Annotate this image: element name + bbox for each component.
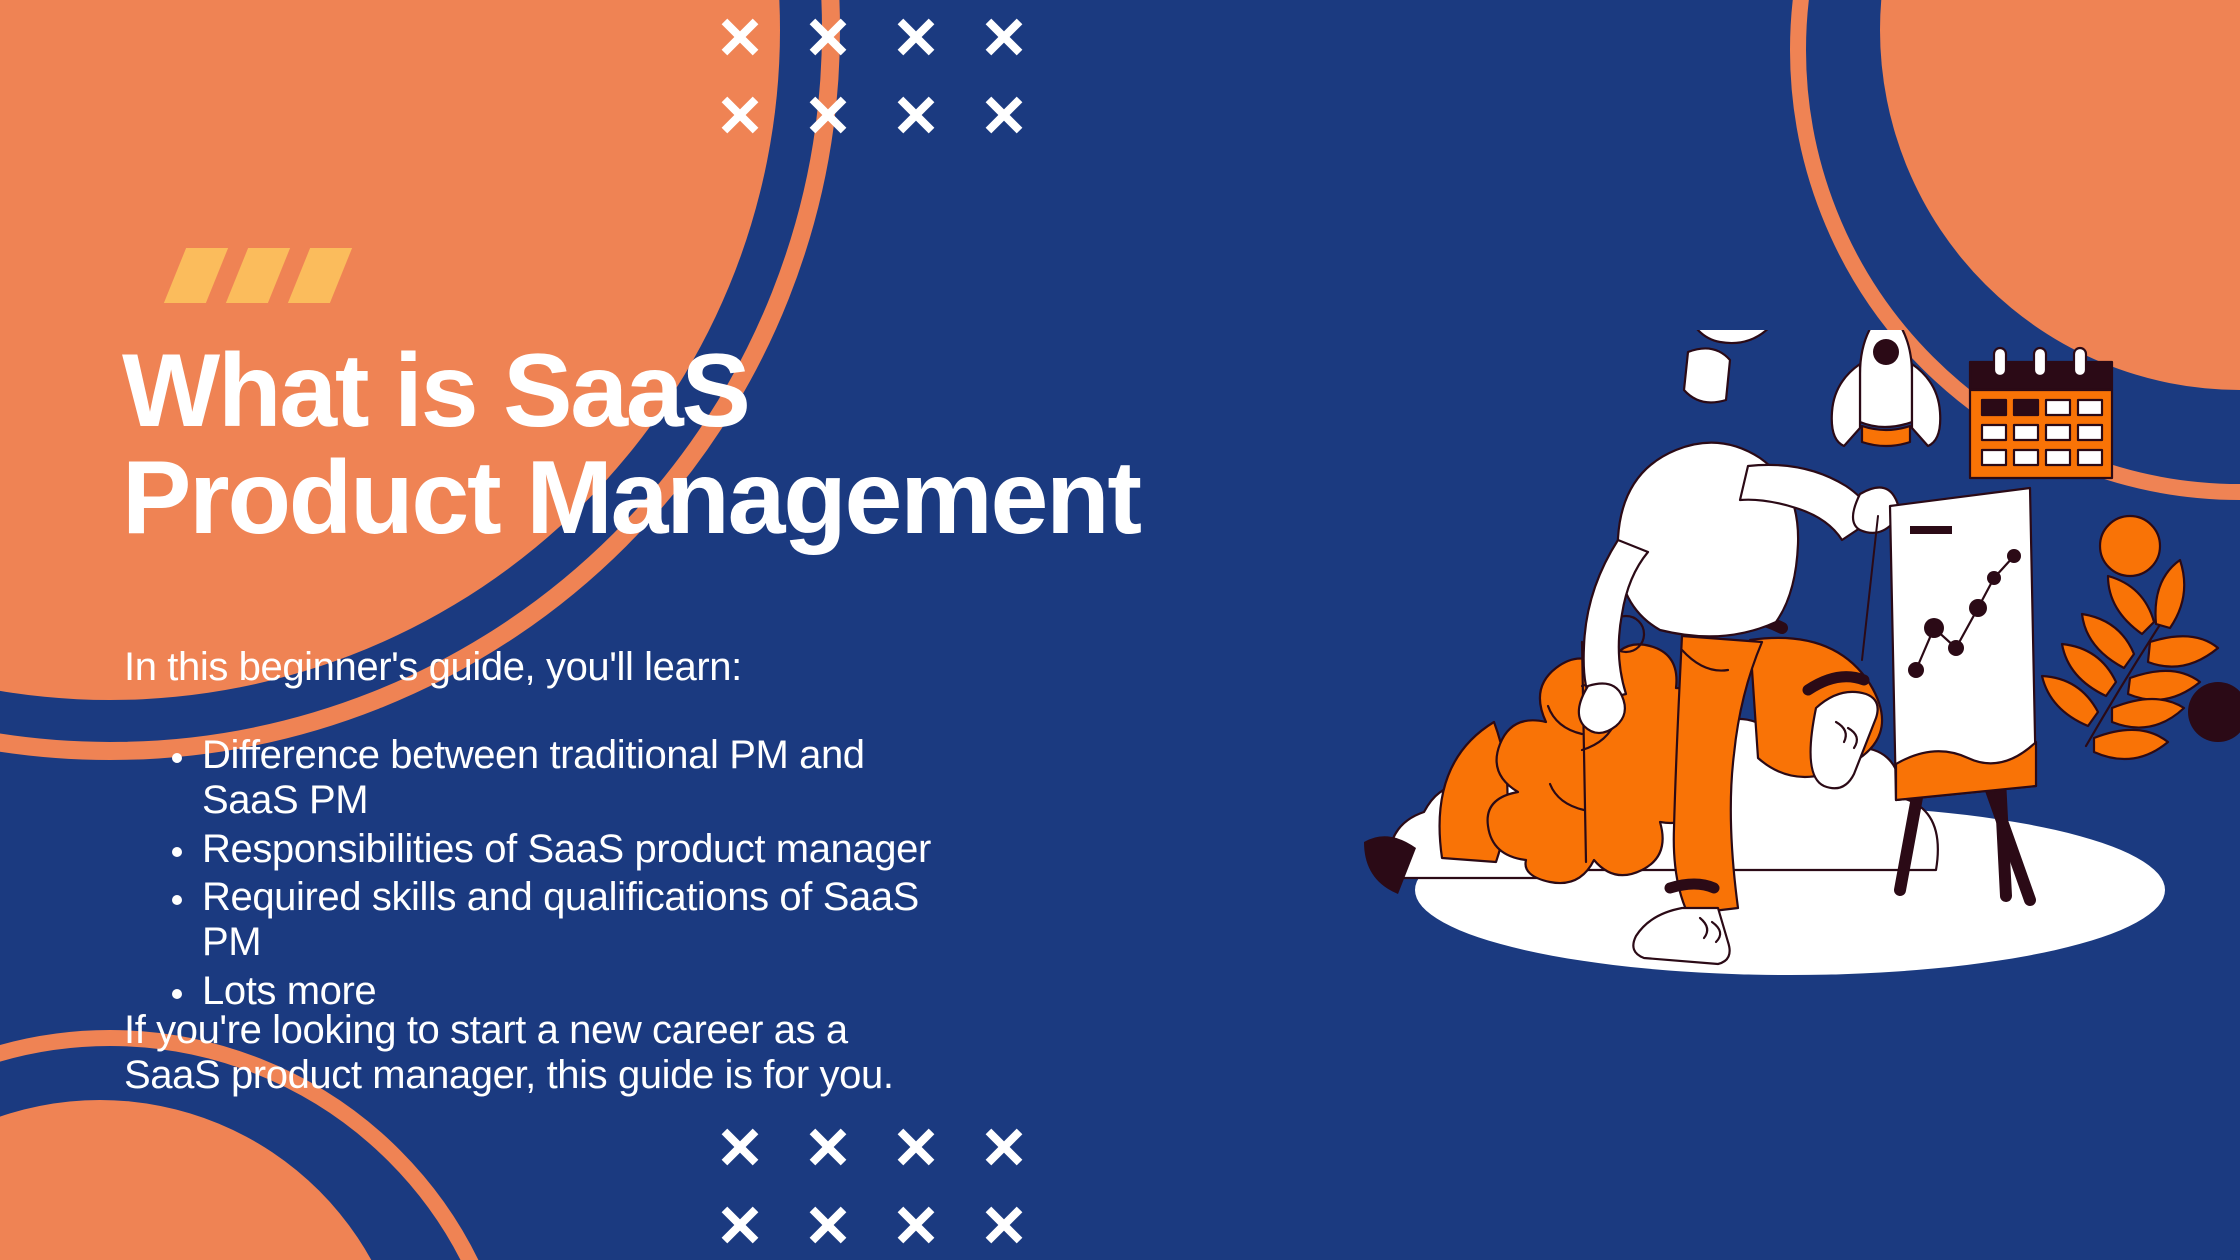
rocket-icon xyxy=(1832,330,1941,446)
x-mark-icon xyxy=(872,76,960,154)
x-mark-icon xyxy=(784,1186,872,1260)
x-mark-icon xyxy=(784,1108,872,1186)
x-mark-icon xyxy=(872,0,960,76)
dark-dot xyxy=(2188,682,2240,742)
slash-icon xyxy=(288,248,352,303)
x-mark-icon xyxy=(960,76,1048,154)
slash-icon xyxy=(226,248,290,303)
orange-dot xyxy=(2100,516,2160,576)
x-mark-icon xyxy=(872,1108,960,1186)
saas-illustration xyxy=(1330,330,2240,1030)
x-mark-icon xyxy=(696,0,784,76)
x-mark-icon xyxy=(696,1186,784,1260)
dark-leaf-shape xyxy=(1364,836,1416,894)
x-mark-icon xyxy=(784,0,872,76)
list-item: Difference between traditional PM and Sa… xyxy=(160,733,960,823)
list-item: Required skills and qualifications of Sa… xyxy=(160,875,960,965)
x-mark-icon xyxy=(784,76,872,154)
orange-fern xyxy=(2042,560,2218,759)
x-pattern-top xyxy=(696,0,1048,154)
learning-points-list: Difference between traditional PM and Sa… xyxy=(160,733,960,1018)
page-title-line-2: Product Management xyxy=(122,445,1452,552)
chart-easel xyxy=(1890,488,2036,800)
x-mark-icon xyxy=(872,1186,960,1260)
x-mark-icon xyxy=(696,76,784,154)
x-mark-icon xyxy=(960,1186,1048,1260)
x-pattern-bottom xyxy=(696,1108,1048,1260)
page-title: What is SaaS Product Management xyxy=(122,338,1452,552)
calendar-icon xyxy=(1970,348,2112,478)
x-mark-icon xyxy=(960,1108,1048,1186)
intro-text: In this beginner's guide, you'll learn: xyxy=(124,645,742,690)
closing-paragraph: If you're looking to start a new career … xyxy=(124,1008,954,1098)
slash-accent-decoration xyxy=(175,248,395,303)
x-mark-icon xyxy=(696,1108,784,1186)
slide-canvas: What is SaaS Product Management In this … xyxy=(0,0,2240,1260)
x-mark-icon xyxy=(960,0,1048,76)
list-item: Responsibilities of SaaS product manager xyxy=(160,827,960,872)
page-title-line-1: What is SaaS xyxy=(122,333,749,449)
